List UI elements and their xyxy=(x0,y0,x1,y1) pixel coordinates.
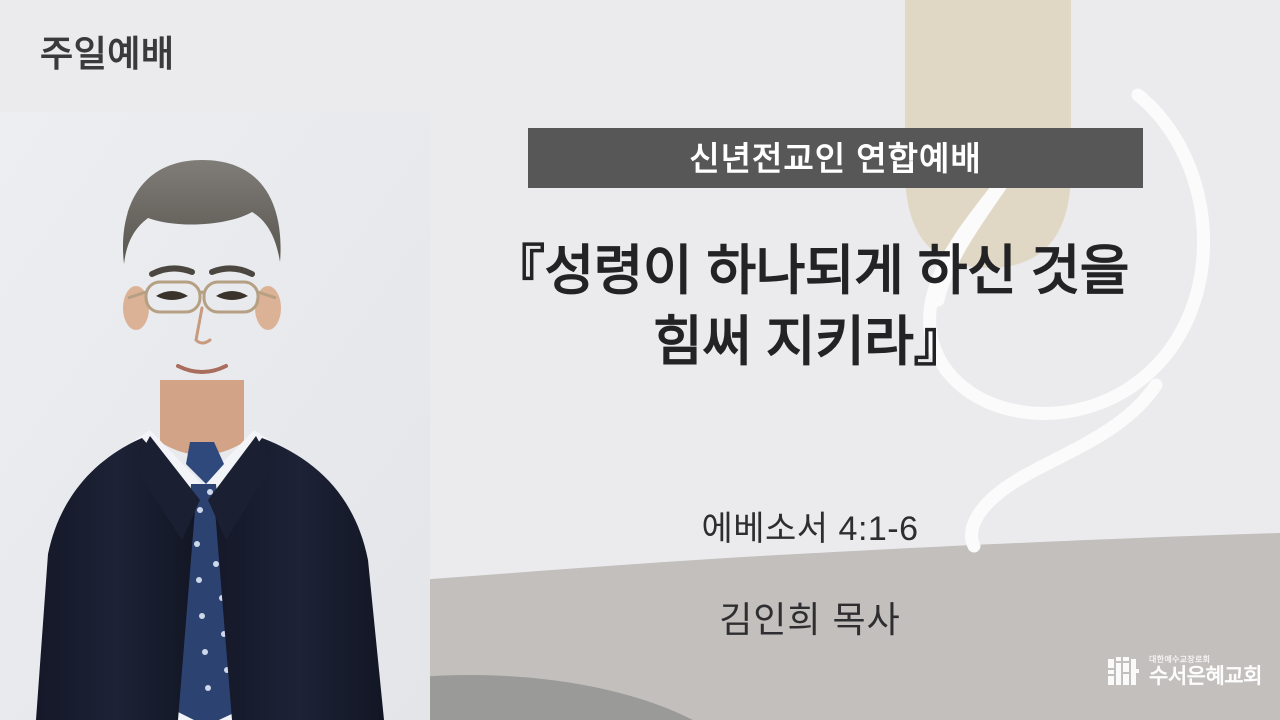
pastor-portrait xyxy=(0,112,430,720)
event-banner: 신년전교인 연합예배 xyxy=(528,128,1143,188)
church-logo: 대한예수교장로회 수서은혜교회 xyxy=(1108,651,1262,687)
speaker-name: 김인희 목사 xyxy=(440,602,1180,638)
church-emblem-icon xyxy=(1108,657,1142,687)
sermon-title: 『성령이 하나되게 하신 것을 힘써 지키라』 xyxy=(440,236,1180,379)
church-logo-texts: 대한예수교장로회 수서은혜교회 xyxy=(1149,656,1262,687)
event-banner-text: 신년전교인 연합예배 xyxy=(689,142,981,175)
church-name-label: 수서은혜교회 xyxy=(1149,666,1262,687)
denomination-label: 대한예수교장로회 xyxy=(1149,656,1210,664)
scripture-reference: 에베소서 4:1-6 xyxy=(440,512,1180,546)
sermon-title-line-1: 『성령이 하나되게 하신 것을 xyxy=(440,236,1180,307)
sermon-title-line-2: 힘써 지키라』 xyxy=(440,307,1180,378)
service-type-label: 주일예배 xyxy=(40,36,174,72)
sermon-slide: 주일예배 신년전교인 연합예배 『성령이 하나되게 하신 것을 힘써 지키라』 … xyxy=(0,0,1280,720)
